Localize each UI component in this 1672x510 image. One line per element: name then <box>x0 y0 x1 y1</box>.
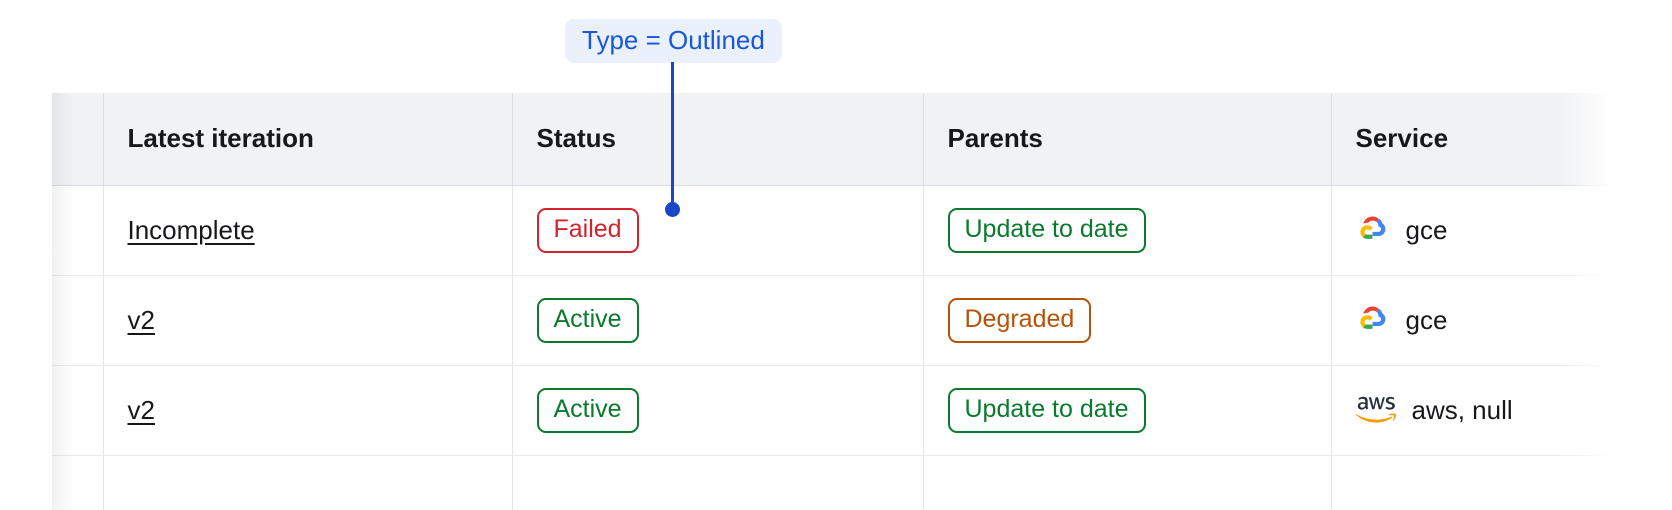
google-cloud-icon <box>1356 213 1390 247</box>
service-value: gce <box>1356 303 1626 337</box>
cell-service: aws, null <box>1331 365 1625 455</box>
header-row: Latest iteration Status Parents Service <box>52 93 1625 185</box>
table-body: Incomplete Failed Update to date <box>52 185 1625 510</box>
cell-status: Active <box>512 275 923 365</box>
cell-service: gce <box>1331 185 1625 275</box>
column-header-service[interactable]: Service <box>1331 93 1625 185</box>
cell-status: Active <box>512 365 923 455</box>
iteration-link[interactable]: v2 <box>128 395 155 425</box>
status-badge: Failed <box>537 208 639 253</box>
row-gutter-cell <box>52 365 103 455</box>
table-row: v2 Active Update to date <box>52 365 1625 455</box>
row-gutter-cell <box>52 275 103 365</box>
service-label: gce <box>1406 215 1448 246</box>
screenshot-stage: Latest iteration Status Parents Service … <box>0 0 1672 510</box>
table-row: Incomplete Failed Update to date <box>52 185 1625 275</box>
annotation-label: Type = Outlined <box>565 19 782 63</box>
status-badge: Active <box>537 298 639 343</box>
cell-latest-iteration: v2 <box>103 365 512 455</box>
annotation-leader-line <box>671 62 674 208</box>
column-header-gutter <box>52 93 103 185</box>
cell-latest-iteration: v2 <box>103 275 512 365</box>
cell-service: gce <box>1331 275 1625 365</box>
annotation-anchor-dot <box>665 202 680 217</box>
aws-icon <box>1356 395 1396 425</box>
service-label: aws, null <box>1412 395 1513 426</box>
cell-status: Failed <box>512 185 923 275</box>
table-row: v2 Active Degraded <box>52 275 1625 365</box>
cell-parents: Update to date <box>923 185 1331 275</box>
cell-parents: Degraded <box>923 275 1331 365</box>
cell-parents: Update to date <box>923 365 1331 455</box>
data-table: Latest iteration Status Parents Service … <box>52 93 1625 510</box>
parents-badge: Update to date <box>948 388 1146 433</box>
cell-service <box>1331 455 1625 510</box>
service-value: gce <box>1356 213 1626 247</box>
cell-latest-iteration <box>103 455 512 510</box>
row-gutter-cell <box>52 185 103 275</box>
table-row <box>52 455 1625 510</box>
service-value: aws, null <box>1356 395 1626 426</box>
table-header: Latest iteration Status Parents Service <box>52 93 1625 185</box>
data-table-container: Latest iteration Status Parents Service … <box>52 93 1625 510</box>
cell-parents <box>923 455 1331 510</box>
cell-latest-iteration: Incomplete <box>103 185 512 275</box>
column-header-parents[interactable]: Parents <box>923 93 1331 185</box>
parents-badge: Update to date <box>948 208 1146 253</box>
service-label: gce <box>1406 305 1448 336</box>
iteration-link[interactable]: Incomplete <box>128 215 255 245</box>
iteration-link[interactable]: v2 <box>128 305 155 335</box>
google-cloud-icon <box>1356 303 1390 337</box>
cell-status <box>512 455 923 510</box>
column-header-latest-iteration[interactable]: Latest iteration <box>103 93 512 185</box>
column-header-status[interactable]: Status <box>512 93 923 185</box>
row-gutter-cell <box>52 455 103 510</box>
status-badge: Active <box>537 388 639 433</box>
parents-badge: Degraded <box>948 298 1092 343</box>
